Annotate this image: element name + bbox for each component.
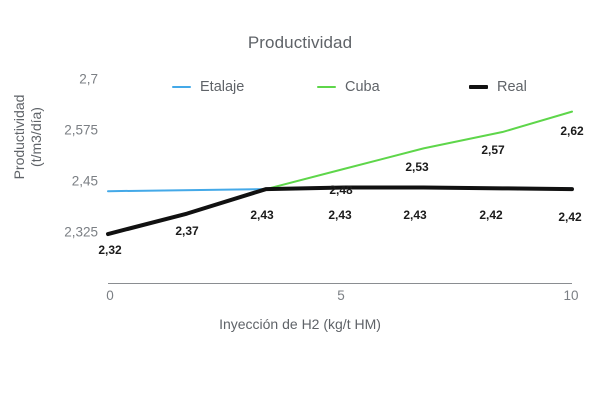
legend-item-cuba[interactable]: Cuba: [317, 76, 380, 98]
legend-label-real: Real: [497, 79, 527, 95]
y-tick-1: 2,325: [38, 225, 98, 240]
data-label-cuba-10: 2,62: [560, 124, 583, 138]
chart-legend: Etalaje Cuba Real: [172, 76, 562, 98]
legend-swatch-cuba: [317, 86, 336, 88]
data-label-cuba-8: 2,53: [405, 160, 428, 174]
chart-container: Productividad Etalaje Cuba Real Producti…: [0, 0, 600, 400]
y-axis-title-line1: Productividad: [11, 57, 28, 217]
legend-label-etalaje: Etalaje: [200, 79, 244, 95]
y-tick-3: 2,575: [38, 123, 98, 138]
data-label-real-0: 2,32: [98, 243, 121, 257]
data-label-real-6: 2,42: [558, 210, 581, 224]
data-label-cuba-7: 2,48: [329, 183, 352, 197]
data-label-real-2: 2,43: [250, 208, 273, 222]
data-label-real-4: 2,43: [403, 208, 426, 222]
y-tick-2: 2,45: [38, 174, 98, 189]
data-label-cuba-9: 2,57: [481, 143, 504, 157]
legend-item-real[interactable]: Real: [469, 76, 527, 98]
x-tick-10: 10: [563, 288, 578, 303]
x-axis-title: Inyección de H2 (kg/t HM): [0, 316, 600, 332]
y-tick-4: 2,7: [38, 72, 98, 87]
legend-item-etalaje[interactable]: Etalaje: [172, 76, 244, 98]
x-axis-line: [108, 283, 572, 284]
data-label-real-5: 2,42: [479, 208, 502, 222]
legend-swatch-real: [469, 85, 488, 89]
y-axis-ticks: 2,7 2,575 2,45 2,325: [38, 0, 98, 400]
data-label-real-3: 2,43: [328, 208, 351, 222]
legend-swatch-etalaje: [172, 86, 191, 88]
x-tick-0: 0: [106, 288, 114, 303]
x-tick-5: 5: [337, 288, 345, 303]
legend-label-cuba: Cuba: [345, 79, 380, 95]
data-label-real-1: 2,37: [175, 224, 198, 238]
